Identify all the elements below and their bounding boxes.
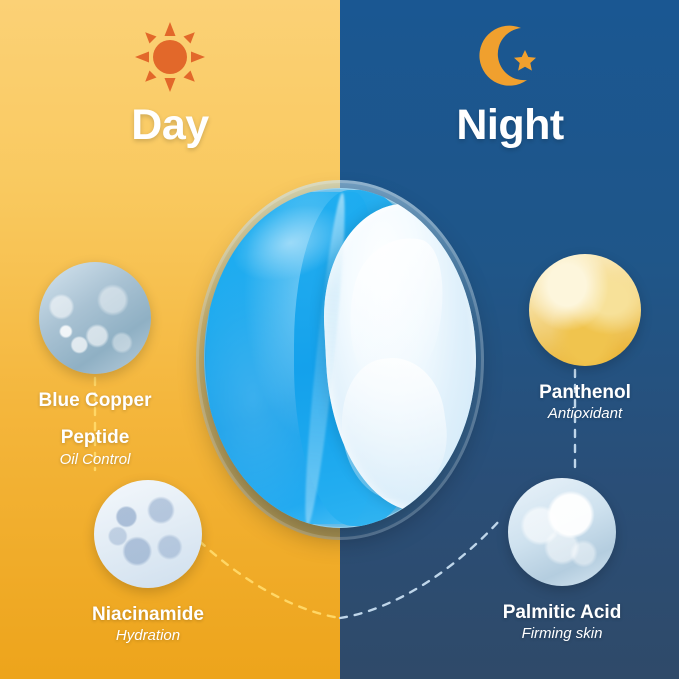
- moon-star-icon: [340, 22, 679, 92]
- ingredient-benefit: Oil Control: [10, 451, 180, 469]
- jar-contents: [204, 188, 476, 528]
- ingredient-benefit: Antioxidant: [500, 405, 670, 423]
- day-header: Day: [0, 22, 340, 147]
- night-header: Night: [340, 22, 679, 147]
- sun-icon: [0, 22, 340, 92]
- ingredient-name: Niacinamide: [48, 604, 248, 625]
- ingredient-name: Panthenol: [500, 382, 670, 403]
- swatch-droplet-texture: [508, 478, 616, 586]
- swatch-molecule-texture: [94, 480, 202, 588]
- ingredient-name-line1: Blue Copper: [10, 390, 180, 411]
- ingredient-benefit: Firming skin: [462, 625, 662, 643]
- swatch-oil-capsule-texture: [529, 254, 641, 366]
- night-title: Night: [340, 104, 679, 147]
- ingredient-name: Palmitic Acid: [462, 602, 662, 623]
- swatch-gel-texture: [39, 262, 151, 374]
- ingredient-benefit: Hydration: [48, 627, 248, 645]
- ingredient-niacinamide[interactable]: Niacinamide Hydration: [48, 480, 248, 645]
- infographic-canvas: Day Night Blue Copper: [0, 0, 679, 679]
- day-title: Day: [0, 104, 340, 147]
- ingredient-name-line2: Peptide: [10, 427, 180, 448]
- ingredient-blue-copper-peptide[interactable]: Blue Copper Peptide Oil Control: [10, 262, 180, 469]
- ingredient-palmitic-acid[interactable]: Palmitic Acid Firming skin: [462, 478, 662, 643]
- ingredient-panthenol[interactable]: Panthenol Antioxidant: [500, 254, 670, 423]
